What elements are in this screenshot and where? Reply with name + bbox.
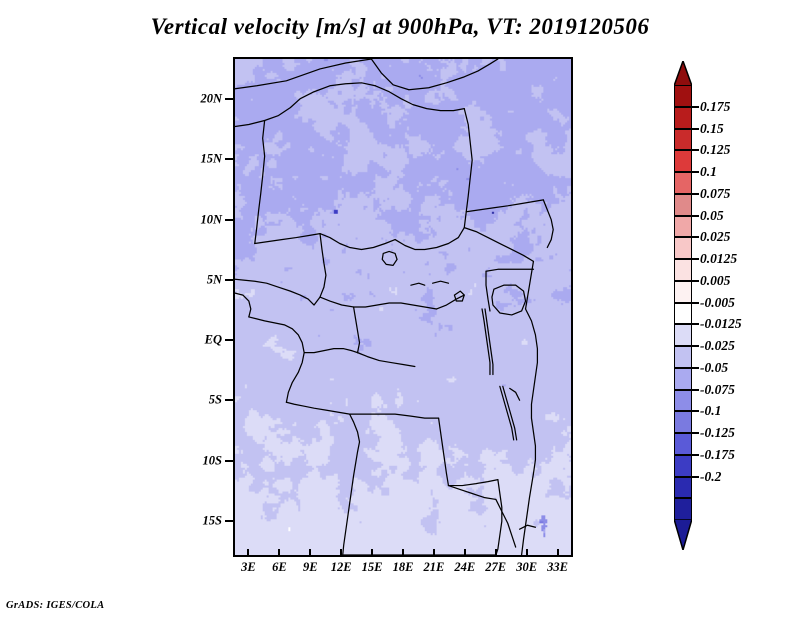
colorbar-tick: [692, 323, 699, 325]
y-axis-label: 10S: [0, 453, 222, 468]
colorbar-band: [674, 498, 692, 520]
colorbar-tick: [692, 389, 699, 391]
colorbar-band: [674, 107, 692, 129]
y-axis-label: 15N: [0, 152, 222, 167]
colorbar-tick: [692, 454, 699, 456]
colorbar-tick: [692, 171, 699, 173]
x-axis-label: 27E: [485, 560, 506, 575]
x-axis-tick: [433, 549, 435, 557]
colorbar-band: [674, 411, 692, 433]
y-axis-label: 10N: [0, 212, 222, 227]
colorbar-band: [674, 346, 692, 368]
colorbar-tick-label: 0.075: [700, 186, 730, 202]
colorbar-tick-label: 0.005: [700, 273, 730, 289]
x-axis-label: 9E: [303, 560, 318, 575]
colorbar-tick: [692, 128, 699, 130]
colorbar-band: [674, 172, 692, 194]
x-axis-label: 30E: [516, 560, 537, 575]
y-axis-label: 5N: [0, 272, 222, 287]
x-axis-label: 33E: [547, 560, 568, 575]
colorbar-band: [674, 433, 692, 455]
colorbar-tick-label: -0.005: [700, 295, 735, 311]
colorbar-band: [674, 237, 692, 259]
colorbar[interactable]: [674, 85, 692, 520]
colorbar-tick-label: 0.15: [700, 121, 724, 137]
colorbar-tick-label: -0.125: [700, 425, 735, 441]
colorbar-band: [674, 324, 692, 346]
colorbar-tick: [692, 432, 699, 434]
x-axis-tick: [247, 549, 249, 557]
y-axis-tick: [225, 219, 233, 221]
x-axis-label: 24E: [454, 560, 475, 575]
colorbar-tick: [692, 345, 699, 347]
colorbar-tick: [692, 280, 699, 282]
colorbar-band: [674, 85, 692, 107]
y-axis-label: EQ: [0, 333, 222, 348]
colorbar-band: [674, 150, 692, 172]
colorbar-tick: [692, 193, 699, 195]
colorbar-tick-label: -0.05: [700, 360, 728, 376]
colorbar-band: [674, 390, 692, 412]
footer-credit: GrADS: IGES/COLA: [6, 600, 104, 611]
colorbar-tick-label: 0.1: [700, 164, 717, 180]
colorbar-tick: [692, 215, 699, 217]
colorbar-tick: [692, 410, 699, 412]
colorbar-arrow-bottom: [674, 519, 692, 550]
page-title: Vertical velocity [m/s] at 900hPa, VT: 2…: [0, 14, 800, 40]
x-axis-label: 6E: [272, 560, 287, 575]
coastline-border-overlay: [235, 59, 571, 555]
x-axis-label: 15E: [362, 560, 383, 575]
x-axis-tick: [526, 549, 528, 557]
y-axis-tick: [225, 399, 233, 401]
colorbar-tick-label: -0.2: [700, 469, 721, 485]
colorbar-tick: [692, 149, 699, 151]
colorbar-tick-label: 0.05: [700, 208, 724, 224]
x-axis-label: 3E: [241, 560, 256, 575]
colorbar-tick: [692, 476, 699, 478]
map-plot-area: [233, 57, 573, 557]
colorbar-tick-label: -0.1: [700, 403, 721, 419]
y-axis-label: 15S: [0, 513, 222, 528]
colorbar-band: [674, 216, 692, 238]
colorbar-band: [674, 281, 692, 303]
colorbar-tick-label: -0.075: [700, 382, 735, 398]
x-axis-tick: [371, 549, 373, 557]
colorbar-tick: [692, 236, 699, 238]
colorbar-tick: [692, 302, 699, 304]
colorbar-tick-label: 0.0125: [700, 251, 737, 267]
colorbar-band: [674, 259, 692, 281]
x-axis-tick: [340, 549, 342, 557]
colorbar-tick-label: 0.175: [700, 99, 730, 115]
colorbar-tick-label: -0.0125: [700, 316, 742, 332]
x-axis-label: 21E: [423, 560, 444, 575]
y-axis-label: 5S: [0, 393, 222, 408]
colorbar-tick: [692, 367, 699, 369]
y-axis-tick: [225, 339, 233, 341]
y-axis-tick: [225, 520, 233, 522]
colorbar-tick-label: -0.175: [700, 447, 735, 463]
x-axis-tick: [402, 549, 404, 557]
y-axis-tick: [225, 460, 233, 462]
colorbar-band: [674, 477, 692, 499]
x-axis-tick: [309, 549, 311, 557]
x-axis-label: 12E: [331, 560, 352, 575]
colorbar-tick-label: -0.025: [700, 338, 735, 354]
y-axis-label: 20N: [0, 92, 222, 107]
colorbar-band: [674, 194, 692, 216]
x-axis-tick: [557, 549, 559, 557]
colorbar-arrow-top: [674, 61, 692, 86]
x-axis-label: 18E: [393, 560, 414, 575]
x-axis-tick: [464, 549, 466, 557]
colorbar-band: [674, 455, 692, 477]
colorbar-band: [674, 129, 692, 151]
colorbar-band: [674, 368, 692, 390]
colorbar-tick-label: 0.125: [700, 142, 730, 158]
colorbar-band: [674, 303, 692, 325]
colorbar-tick-label: 0.025: [700, 229, 730, 245]
y-axis-tick: [225, 98, 233, 100]
colorbar-tick: [692, 258, 699, 260]
x-axis-tick: [278, 549, 280, 557]
colorbar-tick: [692, 106, 699, 108]
y-axis-tick: [225, 279, 233, 281]
y-axis-tick: [225, 158, 233, 160]
x-axis-tick: [495, 549, 497, 557]
